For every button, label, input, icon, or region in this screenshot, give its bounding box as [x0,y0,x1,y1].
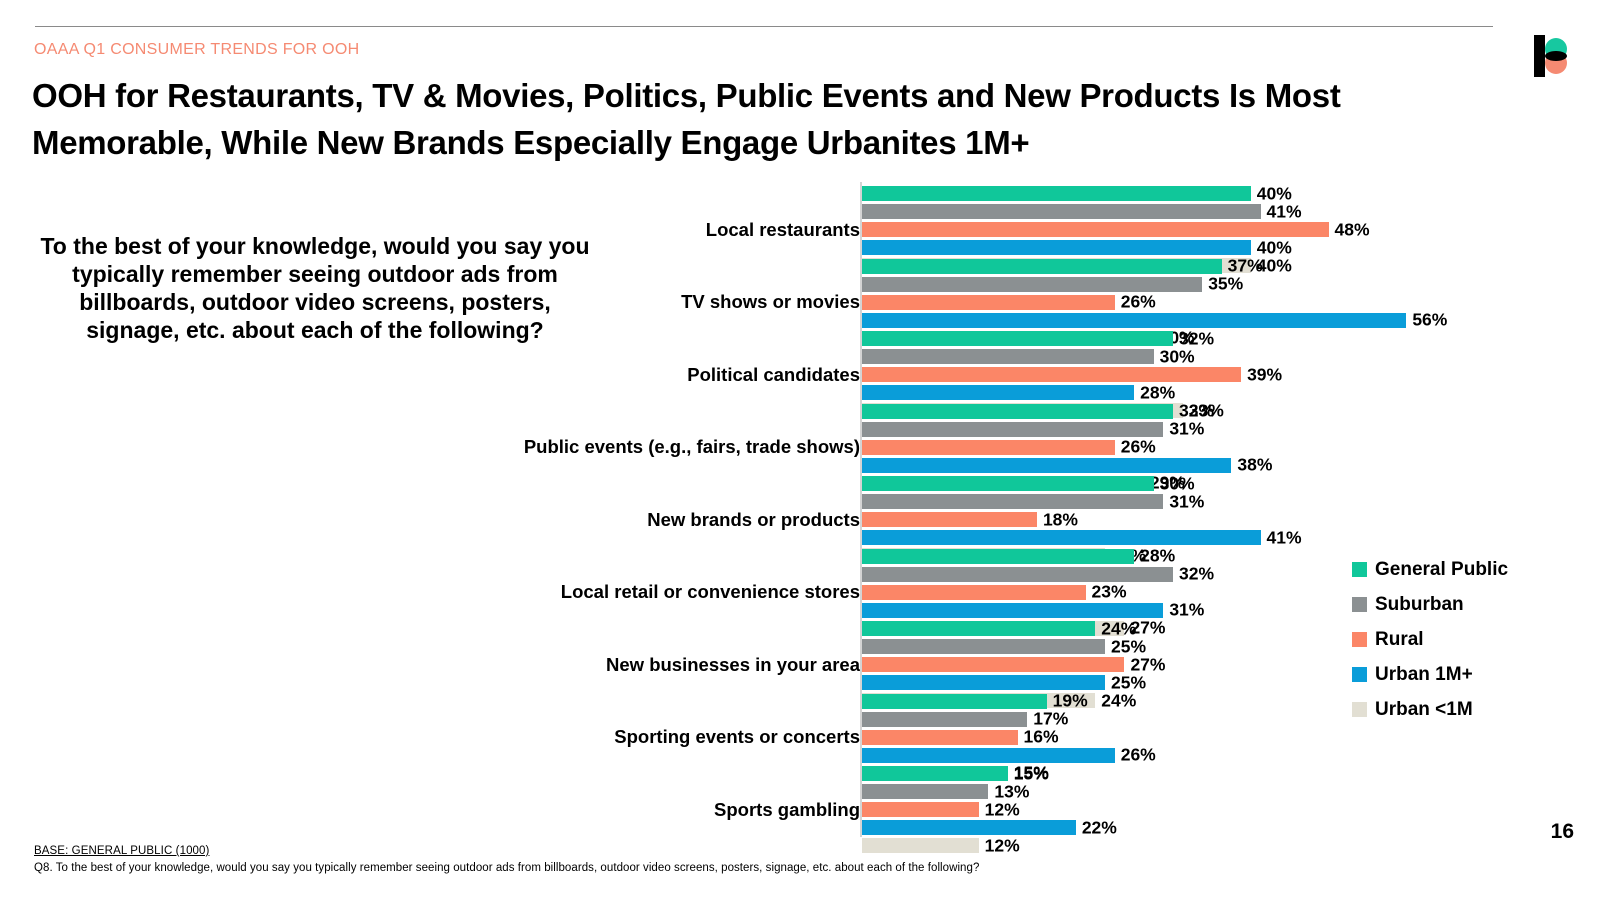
bar-value-label: 35% [1208,274,1243,295]
bar-segment [862,295,1115,310]
legend-swatch-icon [1352,702,1367,717]
plot-area: 40%41%48%40%40%37%35%26%56%30%32%30%39%2… [860,182,1400,837]
bar-value-label: 24% [1101,690,1136,711]
legend-label: Urban 1M+ [1375,664,1473,686]
legend-item[interactable]: Urban <1M [1352,692,1582,727]
bar-segment [862,259,1222,274]
category-label: Political candidates [440,364,860,386]
survey-question-text: To the best of your knowledge, would you… [34,232,596,344]
bar-value-label: 41% [1267,527,1302,548]
bar-value-label: 16% [1024,727,1059,748]
bar-chart: Local restaurantsTV shows or moviesPolit… [640,182,1400,837]
category-label: New businesses in your area [440,654,860,676]
bar-value-label: 26% [1121,437,1156,458]
category-label: New brands or products [440,509,860,531]
bar-segment [862,186,1251,201]
bar-segment [862,748,1115,763]
legend-swatch-icon [1352,667,1367,682]
bar-segment [862,784,988,799]
legend-label: General Public [1375,559,1508,581]
bar-segment [862,349,1154,364]
bar-segment [862,694,1047,709]
bar-segment [862,512,1037,527]
bar-segment [862,657,1124,672]
bar-segment [862,766,1008,781]
bar-value-label: 28% [1140,546,1175,567]
bar-value-label: 12% [985,835,1020,856]
category-label: TV shows or movies [440,291,860,313]
page-title: OOH for Restaurants, TV & Movies, Politi… [32,72,1522,166]
logo-bar-right [1536,35,1545,77]
bar-segment [862,802,979,817]
legend-item[interactable]: General Public [1352,552,1582,587]
bar-value-label: 56% [1412,310,1447,331]
bar-segment [862,567,1173,582]
bar-value-label: 26% [1121,745,1156,766]
bar-value-label: 39% [1247,364,1282,385]
bar-value-label: 31% [1169,419,1204,440]
bar-segment [862,277,1202,292]
legend-item[interactable]: Suburban [1352,587,1582,622]
bar-value-label: 41% [1267,201,1302,222]
bar-value-label: 48% [1335,219,1370,240]
bar-value-label: 18% [1043,509,1078,530]
header-divider [35,26,1493,27]
bar-value-label: 12% [985,799,1020,820]
bar-segment [862,422,1163,437]
bar-segment [862,549,1134,564]
bar-value-label: 26% [1121,292,1156,313]
category-label: Sports gambling [440,799,860,821]
bar-value-label: 38% [1237,455,1272,476]
bar-segment [862,621,1095,636]
chart-legend: General PublicSuburbanRuralUrban 1M+Urba… [1352,552,1582,727]
bar-segment [862,530,1261,545]
bar-segment [862,476,1154,491]
bar-segment [862,313,1406,328]
bar-value-label: 23% [1092,582,1127,603]
bar-value-label: 22% [1082,817,1117,838]
category-label: Local retail or convenience stores [440,581,860,603]
page-number: 16 [1551,820,1574,844]
category-label: Local restaurants [440,219,860,241]
bar-segment [862,458,1231,473]
category-label: Sporting events or concerts [440,726,860,748]
legend-swatch-icon [1352,562,1367,577]
bar-segment [862,838,979,853]
legend-item[interactable]: Urban 1M+ [1352,657,1582,692]
bar-segment [862,675,1105,690]
bar-segment [862,603,1163,618]
bar-segment [862,367,1241,382]
bar-segment [862,404,1173,419]
legend-label: Rural [1375,629,1424,651]
category-axis: Local restaurantsTV shows or moviesPolit… [640,182,860,837]
oaaa-logo-icon [1534,35,1578,77]
bar-segment [862,712,1027,727]
bar-segment [862,331,1173,346]
bar-value-label: 31% [1169,491,1204,512]
bar-segment [862,240,1251,255]
legend-label: Urban <1M [1375,699,1473,721]
bar-segment [862,204,1261,219]
category-label: Public events (e.g., fairs, trade shows) [440,436,860,458]
legend-swatch-icon [1352,597,1367,612]
legend-item[interactable]: Rural [1352,622,1582,657]
question-note: Q8. To the best of your knowledge, would… [34,862,979,874]
legend-label: Suburban [1375,594,1464,616]
bar-segment [862,385,1134,400]
eyebrow-label: OAAA Q1 CONSUMER TRENDS FOR OOH [34,41,360,59]
bar-segment [862,730,1018,745]
bar-segment [862,494,1163,509]
bar-segment [862,585,1086,600]
bar-value-label: 30% [1160,346,1195,367]
legend-swatch-icon [1352,632,1367,647]
bar-segment [862,639,1105,654]
bar-segment [862,440,1115,455]
bar-segment [862,820,1076,835]
bar-segment [862,222,1329,237]
bar-value-label: 28% [1140,382,1175,403]
base-note: BASE: GENERAL PUBLIC (1000) [34,845,209,857]
bar-value-label: 31% [1169,600,1204,621]
logo-lens-shape [1545,51,1567,61]
bar-value-label: 32% [1179,564,1214,585]
